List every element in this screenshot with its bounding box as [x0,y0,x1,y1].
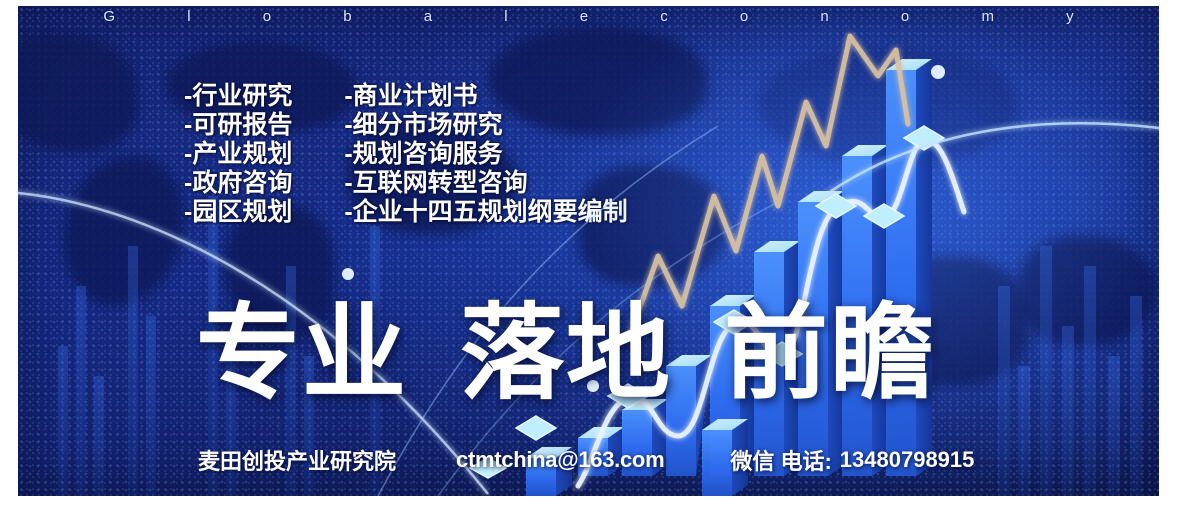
background-column [1108,356,1120,496]
background-column [1040,246,1052,496]
list-item: -行业研究 [184,82,292,111]
service-list-right: -商业计划书 -细分市场研究 -规划咨询服务 -互联网转型咨询 -企业十四五规划… [344,82,627,227]
headline-word-3: 前瞻 [724,302,936,406]
list-item: -商业计划书 [344,82,627,111]
organization-name: 麦田创投产业研究院 [198,444,396,476]
continent-shape [18,32,138,152]
background-column [128,246,138,496]
list-item: -园区规划 [184,198,292,227]
list-item: -政府咨询 [184,169,292,198]
continent-shape [1018,236,1158,346]
list-item: -可研报告 [184,111,292,140]
contact-row: 麦田创投产业研究院 ctmtchina@163.com 微信 电话: 13480… [198,444,974,476]
background-column [146,316,156,496]
background-column [1130,296,1142,496]
horizon-arc-right [824,123,1159,196]
halftone-dot-grid [18,6,1159,496]
background-column [94,376,104,496]
list-item: -规划咨询服务 [344,140,627,169]
background-column [1018,366,1030,496]
chart-bar [886,59,932,476]
economy-chart-graphic [18,6,1159,496]
halftone-dot-grid-fine [18,6,1159,496]
contact-phone[interactable]: 13480798915 [840,447,975,473]
background-column [1062,326,1074,496]
headline-word-1: 专业 [196,302,408,406]
phone-label: 微信 电话: [730,444,831,476]
list-item: -企业十四五规划纲要编制 [344,198,627,227]
background-column [76,286,86,496]
service-lists: -行业研究 -可研报告 -产业规划 -政府咨询 -园区规划 -商业计划书 -细分… [184,82,628,227]
page-title-kicker: G l o b a l e c o n o m y [18,8,1159,25]
service-list-left: -行业研究 -可研报告 -产业规划 -政府咨询 -园区规划 [184,82,292,227]
continent-shape [758,46,1018,166]
list-item: -产业规划 [184,140,292,169]
list-item: -互联网转型咨询 [344,169,627,198]
center-glow [18,6,1159,496]
background-column [58,346,68,496]
list-item: -细分市场研究 [344,111,627,140]
background-column [1084,266,1096,496]
headline: 专业 落地 前瞻 [196,302,936,406]
banner-frame: G l o b a l e c o n o m y -行业研究 -可研报告 -产… [0,0,1177,514]
contact-email[interactable]: ctmtchina@163.com [456,447,664,473]
poster-canvas: G l o b a l e c o n o m y -行业研究 -可研报告 -产… [18,6,1159,496]
gold-zigzag-line [630,36,908,336]
headline-word-2: 落地 [460,302,672,406]
continent-shape [64,156,184,306]
arc-node-dot [931,65,945,79]
arc-node-dot [342,268,354,280]
background-column [998,286,1010,496]
